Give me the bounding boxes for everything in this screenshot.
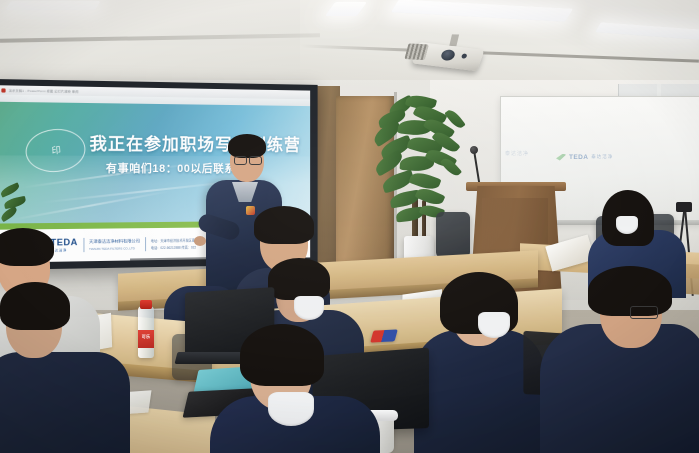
- footer-divider-2: [145, 237, 146, 251]
- mail-icon[interactable]: [190, 259, 195, 262]
- bottle-cap: [140, 300, 152, 309]
- microphone-icon: [470, 146, 478, 154]
- footer-divider-1: [83, 238, 84, 252]
- teda-leaf-icon: [556, 154, 566, 161]
- whiteboard-teda-logo: TEDA 泰达洁净: [556, 150, 614, 164]
- ceiling-light-strip-d: [5, 1, 100, 10]
- slide-title: 我正在参加职场写作训练营: [90, 129, 311, 155]
- company-name-en: TIANJIN TEDA FILTERS CO.,LTD: [89, 246, 140, 251]
- presenter-hand: [194, 236, 206, 246]
- attendee-body: [0, 352, 130, 453]
- company-name-block: 天津泰达洁净材料有限公司 TIANJIN TEDA FILTERS CO.,LT…: [89, 238, 140, 250]
- presenter-glasses-right: [249, 156, 262, 165]
- meeting-room-photo: 泰达洁净 TEDA 泰达洁净 演示文稿1 - PowerPoint 视图 幻灯片…: [0, 0, 699, 453]
- projector-vent-icon: [404, 43, 428, 60]
- whiteboard-brand-cn: 泰达洁净: [591, 154, 613, 160]
- face-mask: [294, 296, 324, 320]
- whiteboard-ghost-logo: 泰达洁净: [505, 150, 547, 162]
- left-plant-sprig: [0, 186, 26, 226]
- presenter-hair: [228, 134, 266, 158]
- company-name-cn: 天津泰达洁净材料有限公司: [89, 238, 140, 245]
- chair-back-left: [436, 212, 470, 258]
- attendee-hair: [240, 324, 324, 386]
- slide-brand-cn: 泰达洁净: [51, 248, 78, 253]
- presenter-badge-icon: [246, 206, 255, 215]
- smartphone: [370, 329, 398, 342]
- attendee-glasses: [630, 306, 658, 319]
- note-icon[interactable]: [180, 260, 185, 263]
- doc-icon[interactable]: [170, 260, 175, 263]
- projector-mount: [449, 34, 459, 46]
- app-logo-icon: [1, 88, 5, 92]
- attendee-hair: [0, 228, 54, 266]
- face-mask: [268, 392, 314, 426]
- tripod-head: [676, 202, 692, 212]
- slide-brand-text: TEDA: [51, 238, 78, 248]
- whiteboard-brand-text: TEDA: [569, 154, 588, 161]
- presenter-glasses-left: [234, 156, 247, 165]
- face-mask: [616, 216, 638, 234]
- slide-subtitle: 有事咱们18：00以后联系: [106, 160, 310, 176]
- window-icon[interactable]: [160, 260, 165, 263]
- attendee-hair: [0, 282, 70, 330]
- face-mask: [478, 312, 510, 338]
- attendee-hair: [254, 206, 314, 244]
- attendee-hair: [268, 258, 330, 300]
- powerpoint-title-text: 演示文稿1 - PowerPoint 视图 幻灯片放映 审阅: [9, 88, 79, 93]
- teda-brand-block: TEDA 泰达洁净: [51, 238, 78, 253]
- company-phone: 电话：022-66212888 传真：022: [151, 244, 201, 250]
- bottle-label-text: 可乐: [138, 334, 154, 340]
